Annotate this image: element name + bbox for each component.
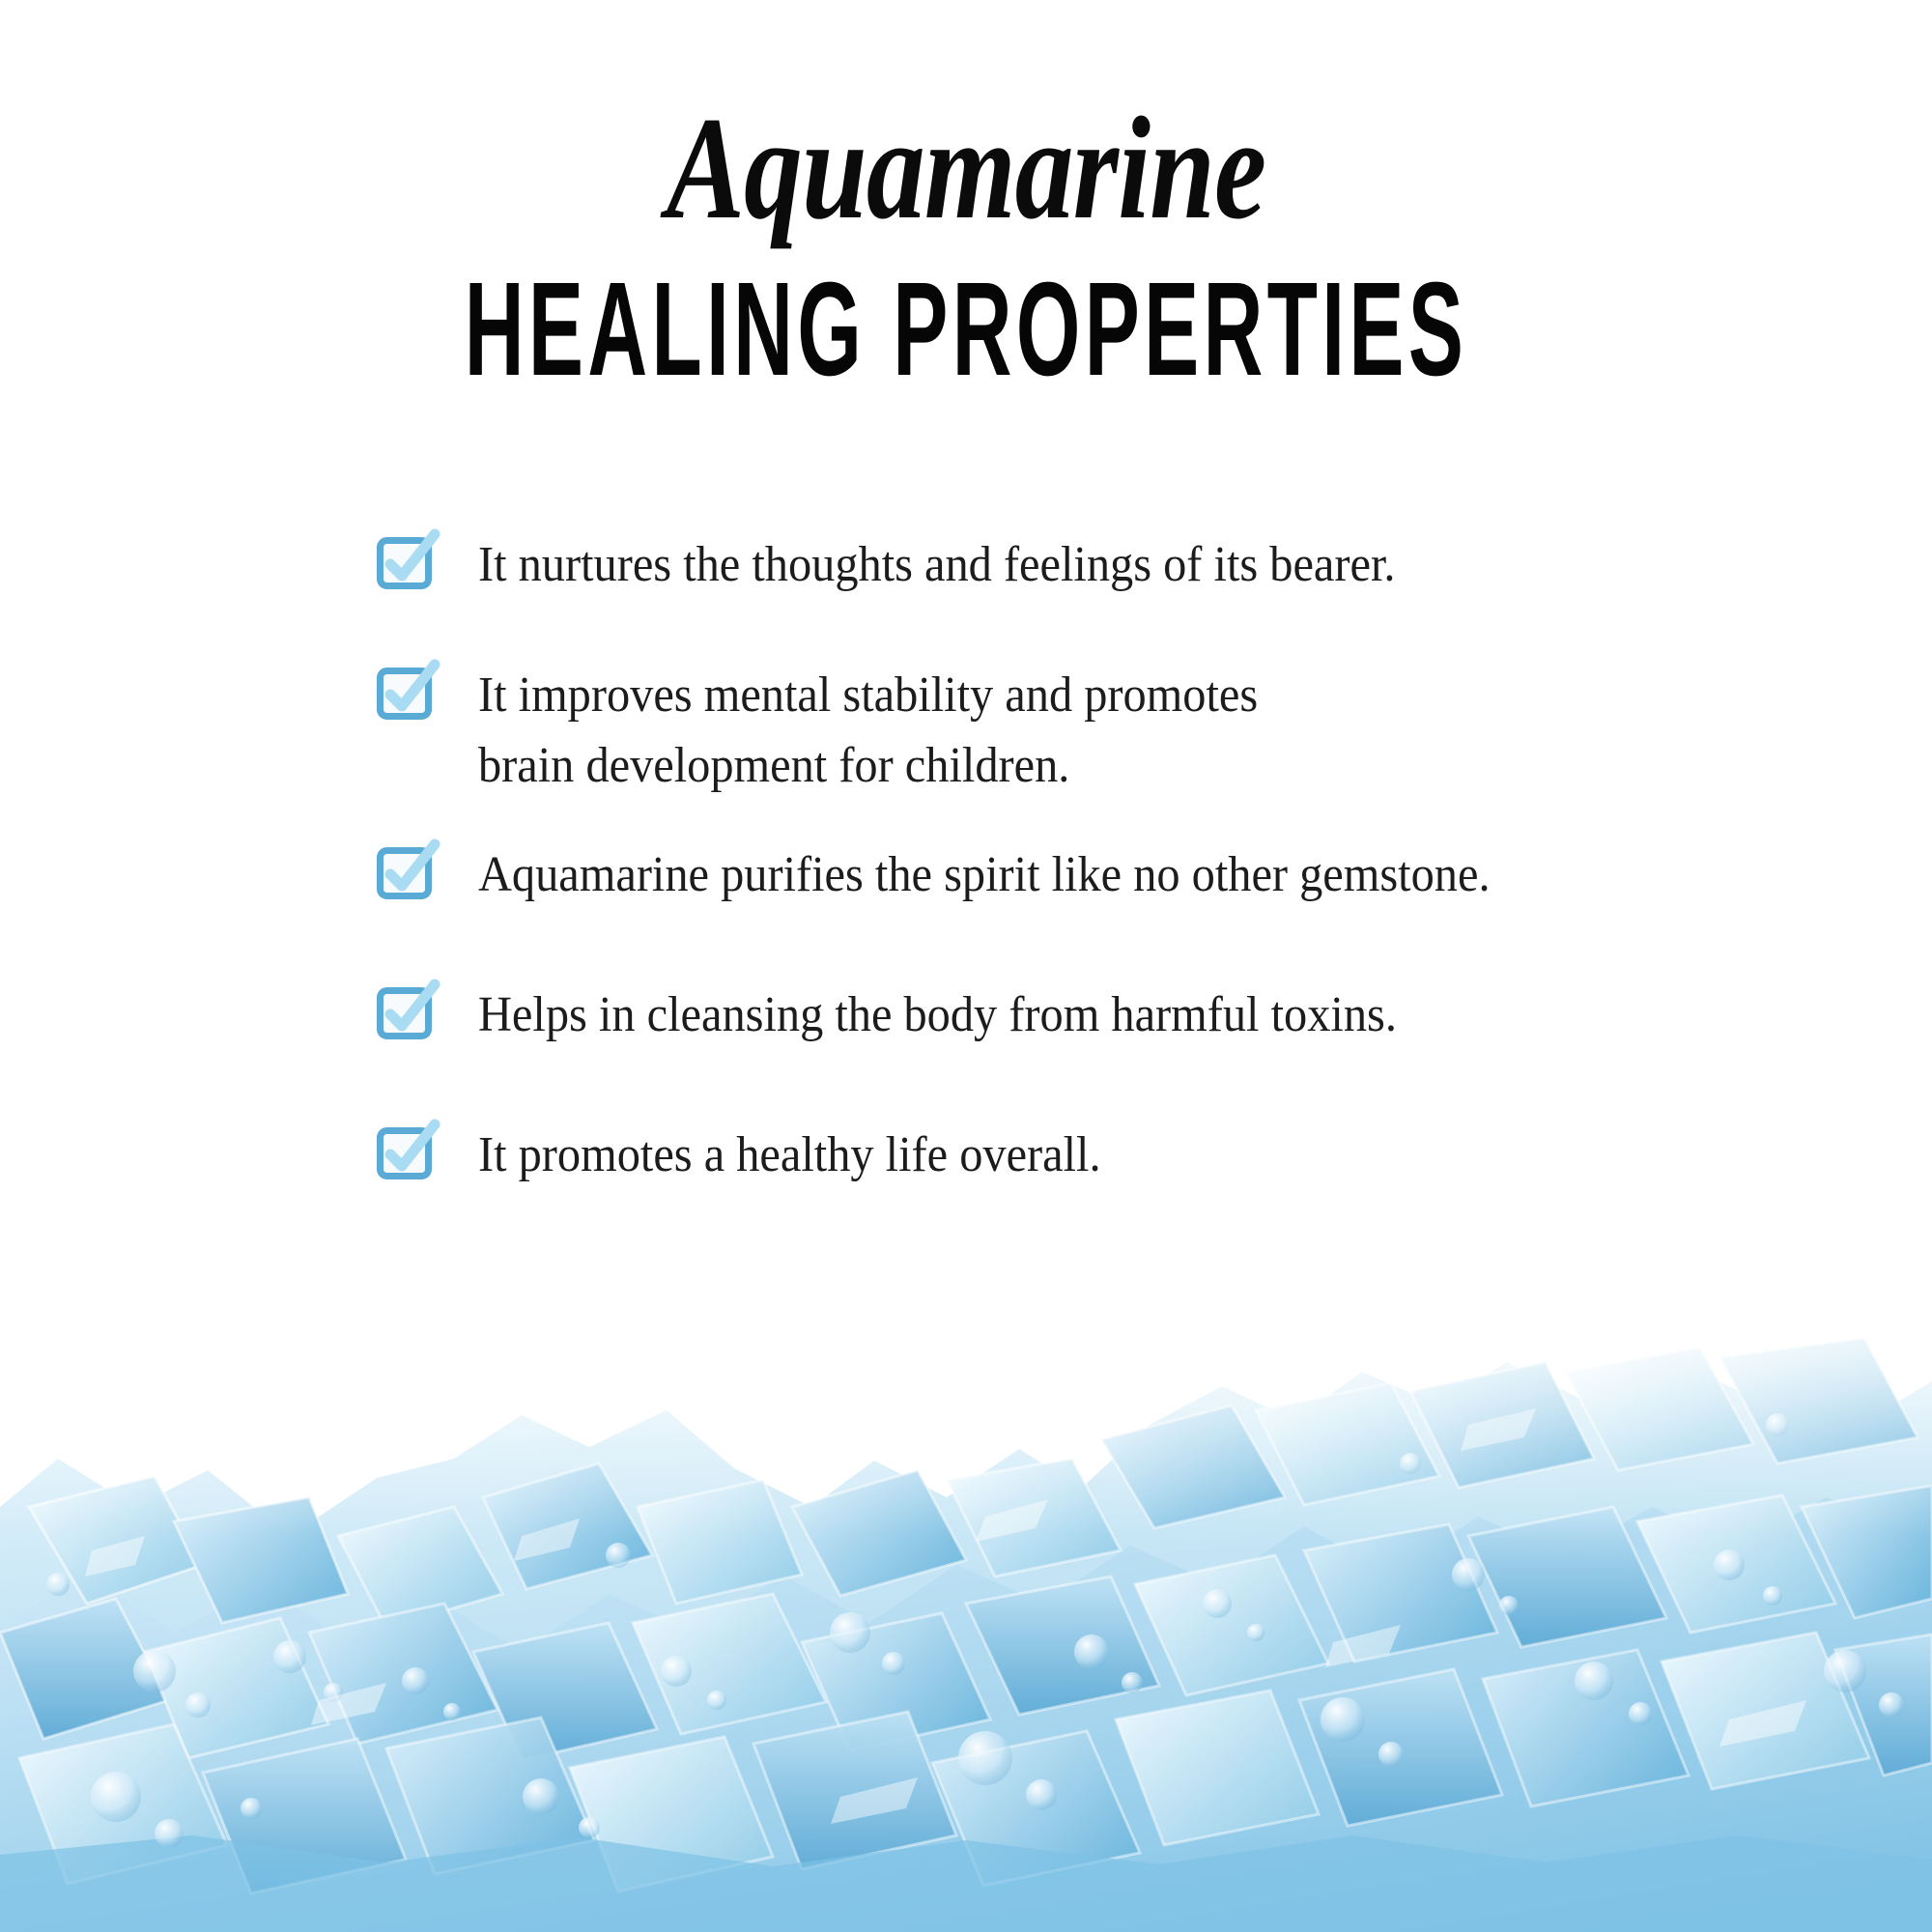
checkbox-checked-icon[interactable] [377,1122,437,1182]
header: Aquamarine HEALING PROPERTIES [0,0,1932,396]
list-item: Aquamarine purifies the spirit like no o… [377,839,1806,910]
page-title: Aquamarine [193,0,1739,241]
list-item: It promotes a healthy life overall. [377,1120,1806,1190]
list-item-label: It improves mental stability and promote… [478,660,1714,801]
poster-canvas: Aquamarine HEALING PROPERTIES It nurture… [0,0,1932,1932]
list-item-label: Aquamarine purifies the spirit like no o… [478,839,1714,910]
healing-properties-list: It nurtures the thoughts and feelings of… [377,529,1806,1190]
list-item-label: It nurtures the thoughts and feelings of… [478,529,1714,600]
list-item: It improves mental stability and promote… [377,660,1806,801]
checkbox-checked-icon[interactable] [377,663,437,723]
page-subtitle: HEALING PROPERTIES [367,241,1565,396]
checkbox-checked-icon[interactable] [377,842,437,902]
checkbox-checked-icon[interactable] [377,982,437,1042]
list-item-label: Helps in cleansing the body from harmful… [478,980,1714,1050]
ice-cubes-photo [0,1217,1932,1932]
list-item: Helps in cleansing the body from harmful… [377,980,1806,1050]
checkbox-checked-icon[interactable] [377,532,437,592]
list-item-label: It promotes a healthy life overall. [478,1120,1714,1190]
list-item: It nurtures the thoughts and feelings of… [377,529,1806,600]
